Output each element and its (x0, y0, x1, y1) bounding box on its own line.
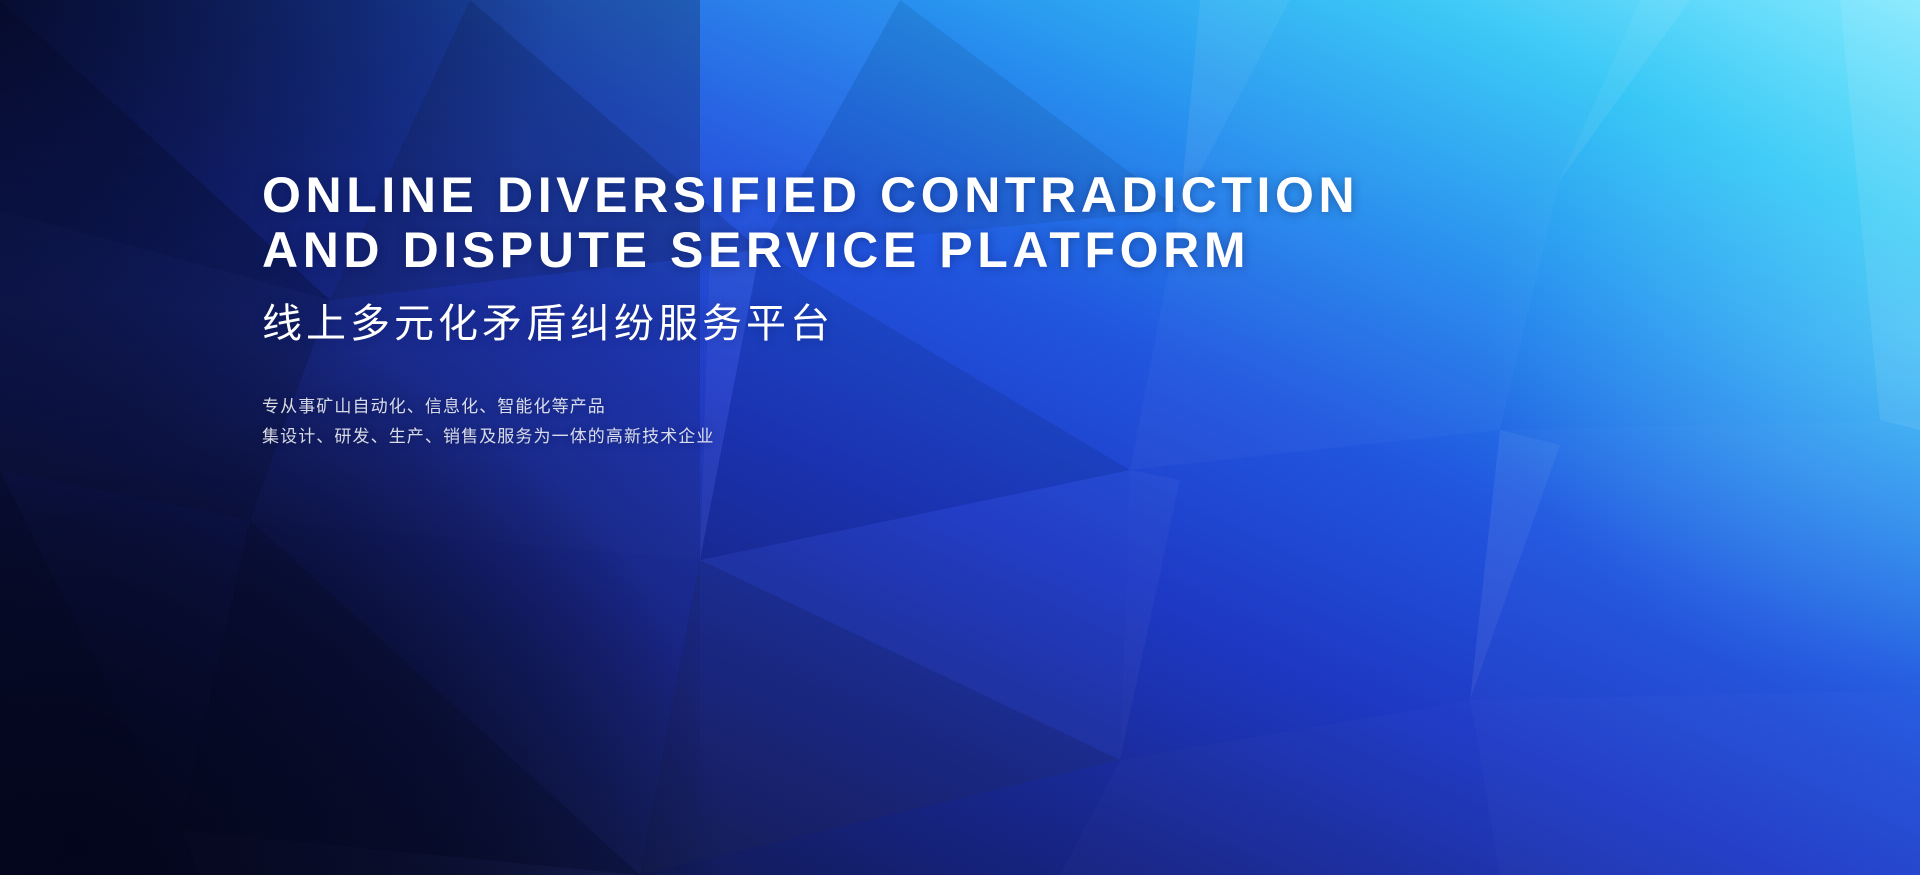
banner-title-english-line1: ONLINE DIVERSIFIED CONTRADICTION (262, 168, 1562, 223)
banner-description-line1: 专从事矿山自动化、信息化、智能化等产品 (262, 392, 1562, 422)
banner-title-chinese: 线上多元化矛盾纠纷服务平台 (262, 278, 1562, 350)
banner-content: ONLINE DIVERSIFIED CONTRADICTION AND DIS… (262, 168, 1562, 452)
banner-description-line2: 集设计、研发、生产、销售及服务为一体的高新技术企业 (262, 422, 1562, 452)
banner-description: 专从事矿山自动化、信息化、智能化等产品 集设计、研发、生产、销售及服务为一体的高… (262, 350, 1562, 452)
banner-title-english-line2: AND DISPUTE SERVICE PLATFORM (262, 223, 1562, 278)
hero-banner: ONLINE DIVERSIFIED CONTRADICTION AND DIS… (0, 0, 1920, 875)
